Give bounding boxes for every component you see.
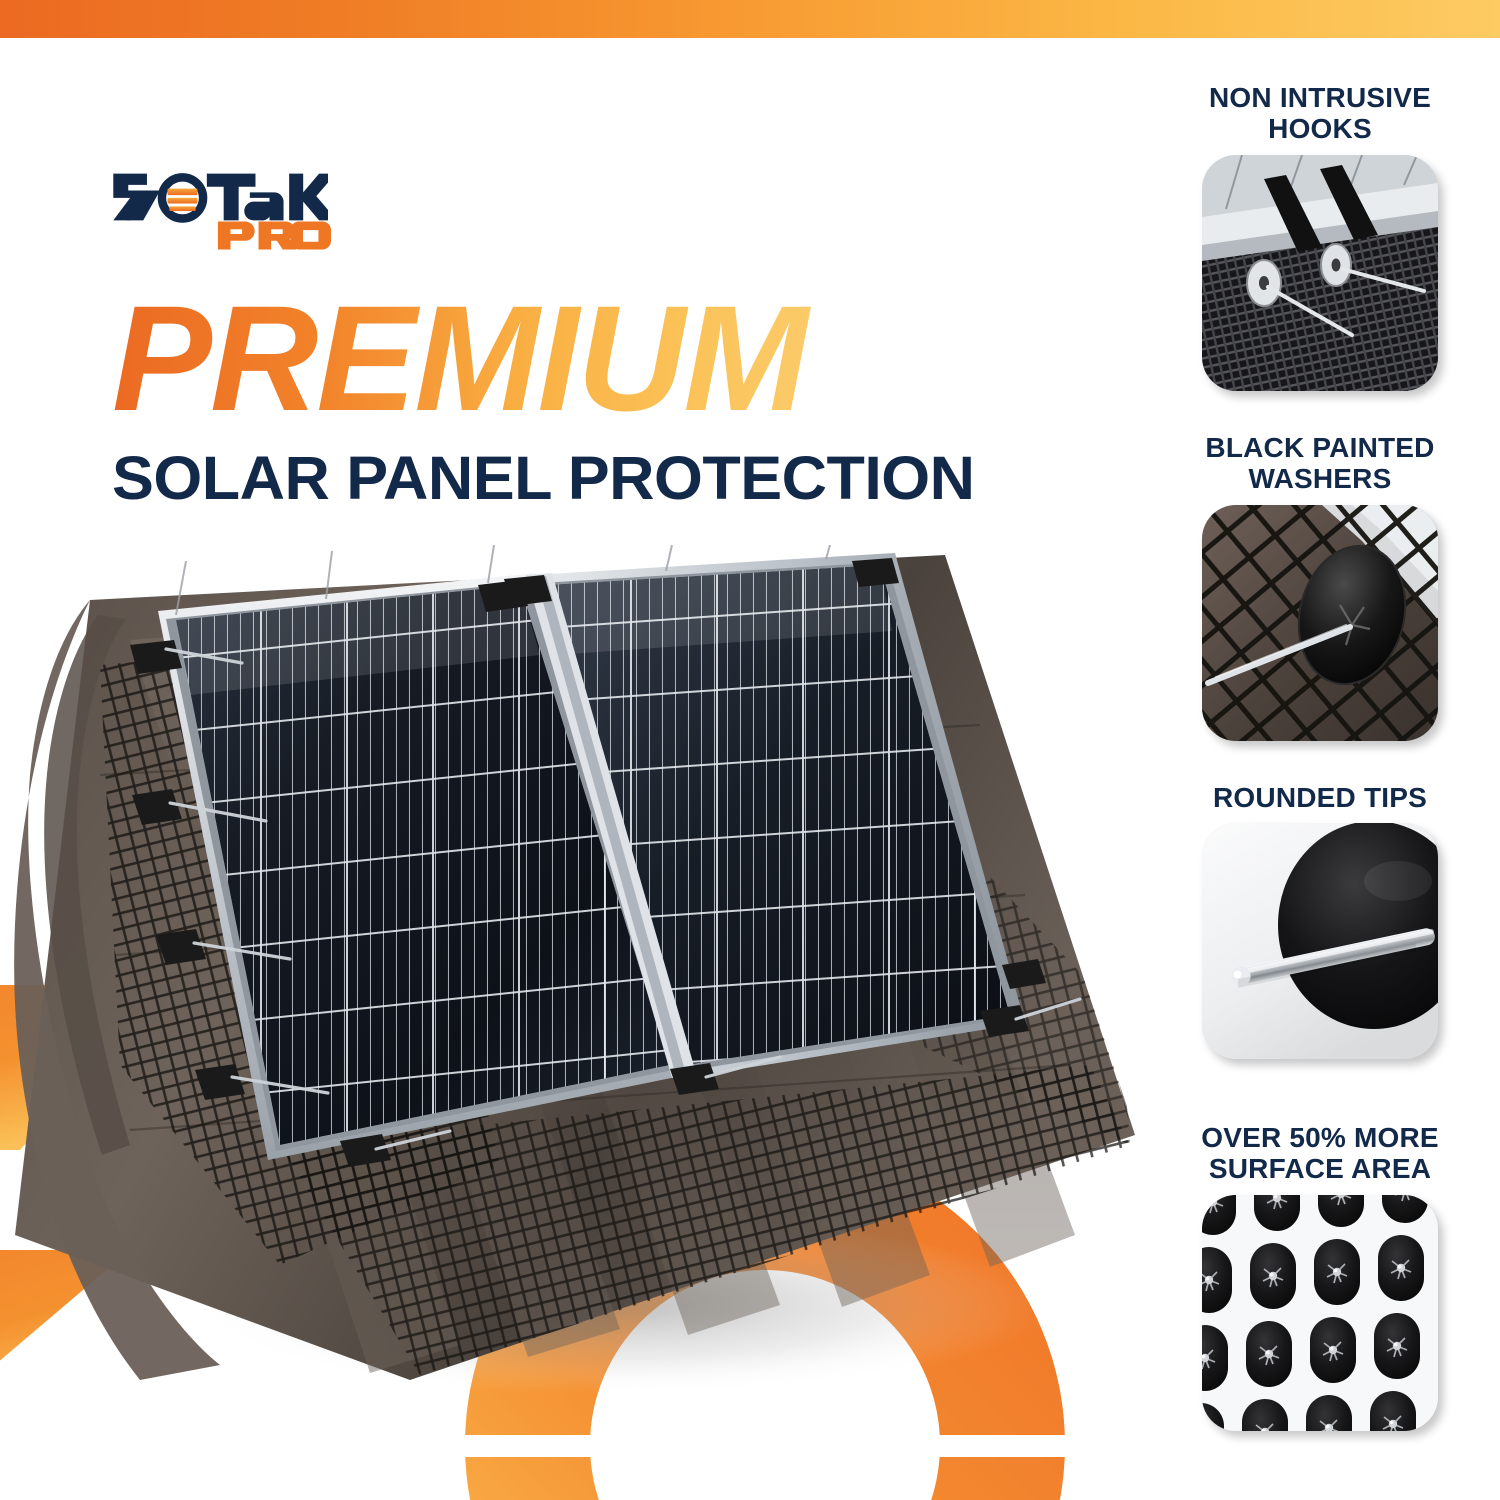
pro-badge-icon xyxy=(216,218,332,252)
page-title: PREMIUM xyxy=(112,288,1092,438)
washer-closeup-photo-icon xyxy=(1202,505,1438,741)
page-subtitle: SOLAR PANEL PROTECTION xyxy=(112,448,1152,509)
feature-item-non-intrusive-hooks[interactable]: NON INTRUSIVE HOOKS xyxy=(1155,82,1485,391)
feature-label: NON INTRUSIVE HOOKS xyxy=(1155,82,1485,155)
feature-item-rounded-tips[interactable]: ROUNDED TIPS xyxy=(1155,782,1485,1059)
feature-item-surface-area[interactable]: OVER 50% MORE SURFACE AREA xyxy=(1155,1122,1485,1431)
mesh-surface-area-photo-icon xyxy=(1202,1195,1438,1431)
feature-thumbnail[interactable] xyxy=(1202,155,1438,391)
feature-thumbnail[interactable] xyxy=(1202,505,1438,741)
svg-text:PREMIUM: PREMIUM xyxy=(112,288,811,438)
solar-panel-roof-mesh-photo-icon xyxy=(0,545,1140,1405)
feature-item-black-painted-washers[interactable]: BLACK PAINTED WASHERS xyxy=(1155,432,1485,741)
feature-list: NON INTRUSIVE HOOKS xyxy=(1155,82,1485,1482)
feature-thumbnail[interactable] xyxy=(1202,823,1438,1059)
hero-product-photo xyxy=(0,545,1140,1405)
feature-label: OVER 50% MORE SURFACE AREA xyxy=(1155,1122,1485,1195)
brand-logo[interactable] xyxy=(110,168,450,263)
headline-block: PREMIUM SOLAR PANEL PROTECTION xyxy=(112,288,1122,509)
infographic-canvas: PREMIUM SOLAR PANEL PROTECTION xyxy=(0,0,1500,1500)
hooks-closeup-photo-icon xyxy=(1202,155,1438,391)
top-accent-bar xyxy=(0,0,1500,38)
feature-label: ROUNDED TIPS xyxy=(1155,782,1485,823)
feature-label: BLACK PAINTED WASHERS xyxy=(1155,432,1485,505)
feature-thumbnail[interactable] xyxy=(1202,1195,1438,1431)
rounded-tip-closeup-photo-icon xyxy=(1202,823,1438,1059)
